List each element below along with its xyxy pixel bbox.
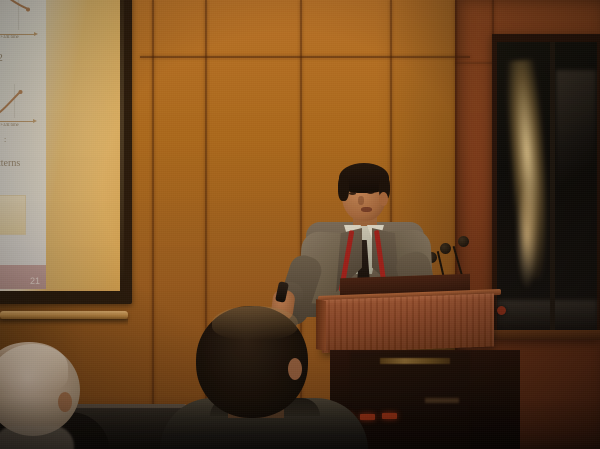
- projector-glow: [0, 0, 124, 296]
- glass-panel-mullion: [550, 42, 555, 330]
- presenter-eye-left: [349, 192, 356, 195]
- audience-member-dark-hair-highlight: [212, 306, 298, 340]
- audience-member-foreground-shoulder: [0, 426, 74, 449]
- audience-member-grey-hair-ear: [58, 392, 72, 412]
- presenter-hair-side-left: [338, 175, 349, 201]
- lectern-wood-grain: [322, 293, 494, 353]
- glass-panel-handle[interactable]: [497, 306, 506, 315]
- wall-seam-horizontal: [140, 56, 470, 58]
- presenter-eye-right: [367, 191, 374, 194]
- projection-screen-surface: t+2Δt+3Δt time R2 t+2Δt+3Δt time : Patte…: [0, 0, 120, 291]
- audience-member-grey-hair-highlight: [0, 342, 68, 392]
- audience-member-dark-hair-ear: [288, 358, 302, 380]
- chair-rail-shadow: [0, 319, 128, 326]
- microphone-head: [458, 236, 469, 247]
- microphone-head: [440, 243, 451, 254]
- audience-chair-highlight: [62, 404, 186, 408]
- lectern-side-edge: [316, 299, 326, 351]
- wall-seam: [152, 0, 154, 449]
- presenter-mouth: [361, 207, 372, 212]
- glass-panel-sill: [492, 330, 600, 340]
- presenter-ear: [379, 192, 388, 206]
- glass-reflection-highlight: [516, 180, 538, 290]
- projection-screen-frame: t+2Δt+3Δt time R2 t+2Δt+3Δt time : Patte…: [0, 0, 132, 304]
- presenter-nose: [358, 196, 364, 205]
- conference-presentation-photo: t+2Δt+3Δt time R2 t+2Δt+3Δt time : Patte…: [0, 0, 600, 449]
- lectern-equipment-marking: [425, 398, 459, 403]
- glass-reflection-base: [497, 300, 597, 330]
- indicator-led: [382, 413, 397, 419]
- glass-reflection-sheen: [556, 70, 596, 270]
- chair-rail: [0, 311, 128, 319]
- lectern-name-plate: [380, 358, 450, 364]
- indicator-led: [360, 414, 375, 420]
